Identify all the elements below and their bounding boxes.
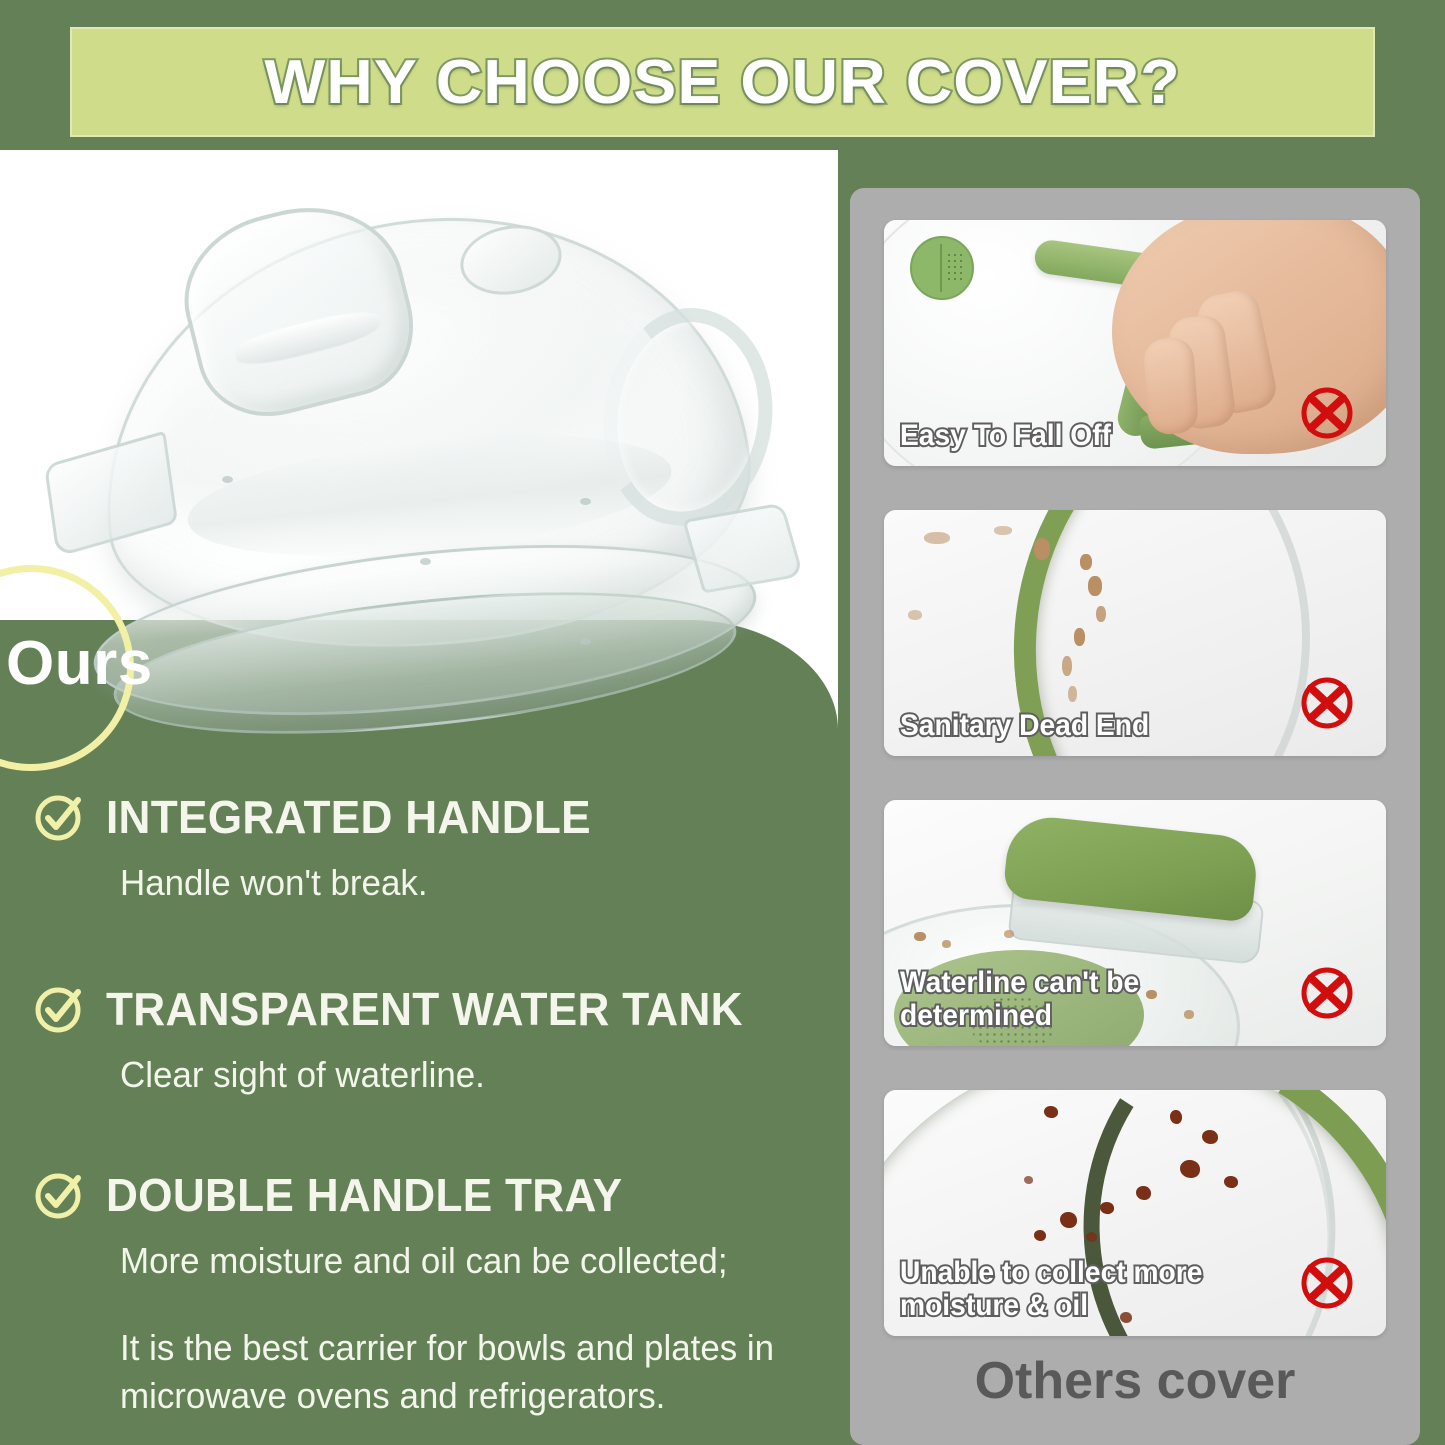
header-band: WHY CHOOSE OUR COVER? [70, 27, 1375, 137]
card-label: Easy To Fall Off [900, 420, 1111, 452]
card-label: Waterline can't be determined [900, 967, 1210, 1032]
feature-item: DOUBLE HANDLE TRAY More moisture and oil… [34, 1168, 824, 1420]
feature-desc-secondary: It is the best carrier for bowls and pla… [120, 1324, 803, 1420]
tray-handle-right [682, 502, 804, 593]
card-label: Sanitary Dead End [900, 710, 1149, 742]
red-x-circle-icon [1296, 382, 1358, 444]
red-x-circle-icon [1296, 1252, 1358, 1314]
page-title: WHY CHOOSE OUR COVER? [44, 27, 1401, 137]
ours-column: Ours INTEGRATED HANDLE Handle won't brea… [0, 150, 838, 1445]
others-column: Easy To Fall Off [850, 188, 1420, 1445]
surface-dot [580, 638, 591, 645]
feature-item: TRANSPARENT WATER TANK Clear sight of wa… [34, 982, 824, 1096]
comparison-card: Waterline can't be determined [884, 800, 1386, 1046]
others-cover-caption: Others cover [850, 1351, 1420, 1411]
feature-title: DOUBLE HANDLE TRAY [106, 1168, 622, 1222]
feature-desc: Handle won't break. [120, 862, 803, 904]
comparison-card: Sanitary Dead End [884, 510, 1386, 756]
infographic-page: WHY CHOOSE OUR COVER? Ours [0, 0, 1445, 1445]
feature-title: INTEGRATED HANDLE [106, 790, 591, 844]
vent-disc-icon [910, 236, 974, 300]
product-image [40, 180, 800, 700]
feature-list: INTEGRATED HANDLE Handle won't break. TR… [34, 790, 824, 1432]
others-card-list: Easy To Fall Off [884, 220, 1386, 1380]
feature-desc: Clear sight of waterline. [120, 1054, 803, 1096]
red-x-circle-icon [1296, 672, 1358, 734]
feature-item: INTEGRATED HANDLE Handle won't break. [34, 790, 824, 904]
card-label: Unable to collect more moisture & oil [900, 1257, 1210, 1322]
check-circle-icon [34, 1169, 86, 1221]
ours-badge-label: Ours [6, 628, 176, 699]
check-circle-icon [34, 791, 86, 843]
surface-dot [420, 558, 431, 565]
feature-desc: More moisture and oil can be collected; [120, 1240, 803, 1282]
comparison-card: Unable to collect more moisture & oil [884, 1090, 1386, 1336]
feature-title: TRANSPARENT WATER TANK [106, 982, 743, 1036]
surface-dot [580, 498, 591, 505]
comparison-card: Easy To Fall Off [884, 220, 1386, 466]
red-x-circle-icon [1296, 962, 1358, 1024]
surface-dot [222, 476, 233, 483]
check-circle-icon [34, 983, 86, 1035]
